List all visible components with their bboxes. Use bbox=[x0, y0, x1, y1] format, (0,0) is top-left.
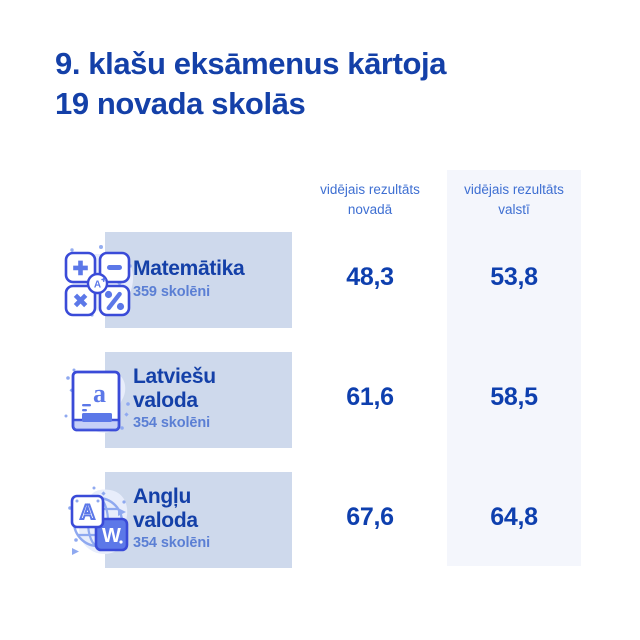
table-row: A Matemātika 359 skolēni 48,3 53,8 bbox=[0, 232, 640, 328]
page-title: 9. klašu eksāmenus kārtoja 19 novada sko… bbox=[55, 44, 595, 125]
column-header-valsti-line-2: valstī bbox=[447, 200, 581, 220]
value-novada: 67,6 bbox=[296, 503, 444, 532]
subject-name: Latviešu valoda bbox=[133, 365, 293, 412]
column-header-novada-line-1: vidējais rezultāts bbox=[296, 180, 444, 200]
page-title-line-2: 19 novada skolās bbox=[55, 84, 595, 124]
student-count: 354 skolēni bbox=[133, 415, 293, 431]
svg-text:A: A bbox=[80, 501, 95, 524]
table-row: W A Angļu valoda 354 skolēni 67,6 64,8 bbox=[0, 472, 640, 568]
column-header-novada-line-2: novadā bbox=[296, 200, 444, 220]
column-header-novada: vidējais rezultāts novadā bbox=[296, 180, 444, 219]
row-label: Latviešu valoda 354 skolēni bbox=[133, 365, 293, 431]
value-valsti: 53,8 bbox=[447, 263, 581, 292]
page-title-line-1: 9. klašu eksāmenus kārtoja bbox=[55, 44, 595, 84]
math-operations-icon: A bbox=[56, 238, 140, 322]
row-label: Matemātika 359 skolēni bbox=[133, 257, 293, 300]
globe-translate-cards-icon: W A bbox=[56, 478, 140, 562]
svg-text:a: a bbox=[93, 379, 106, 408]
svg-text:A: A bbox=[94, 280, 101, 291]
column-header-valsti: vidējais rezultāts valstī bbox=[447, 180, 581, 219]
value-valsti: 64,8 bbox=[447, 503, 581, 532]
svg-text:W: W bbox=[102, 525, 121, 547]
book-letter-a-icon: a bbox=[56, 358, 140, 442]
subject-name: Matemātika bbox=[133, 257, 293, 281]
student-count: 354 skolēni bbox=[133, 535, 293, 551]
subject-name: Angļu valoda bbox=[133, 485, 293, 532]
value-valsti: 58,5 bbox=[447, 383, 581, 412]
infographic-canvas: 9. klašu eksāmenus kārtoja 19 novada sko… bbox=[0, 0, 640, 640]
value-novada: 48,3 bbox=[296, 263, 444, 292]
row-label: Angļu valoda 354 skolēni bbox=[133, 485, 293, 551]
student-count: 359 skolēni bbox=[133, 284, 293, 300]
column-header-valsti-line-1: vidējais rezultāts bbox=[447, 180, 581, 200]
table-row: a Latviešu valoda 354 skolēni 61,6 58,5 bbox=[0, 352, 640, 448]
value-novada: 61,6 bbox=[296, 383, 444, 412]
